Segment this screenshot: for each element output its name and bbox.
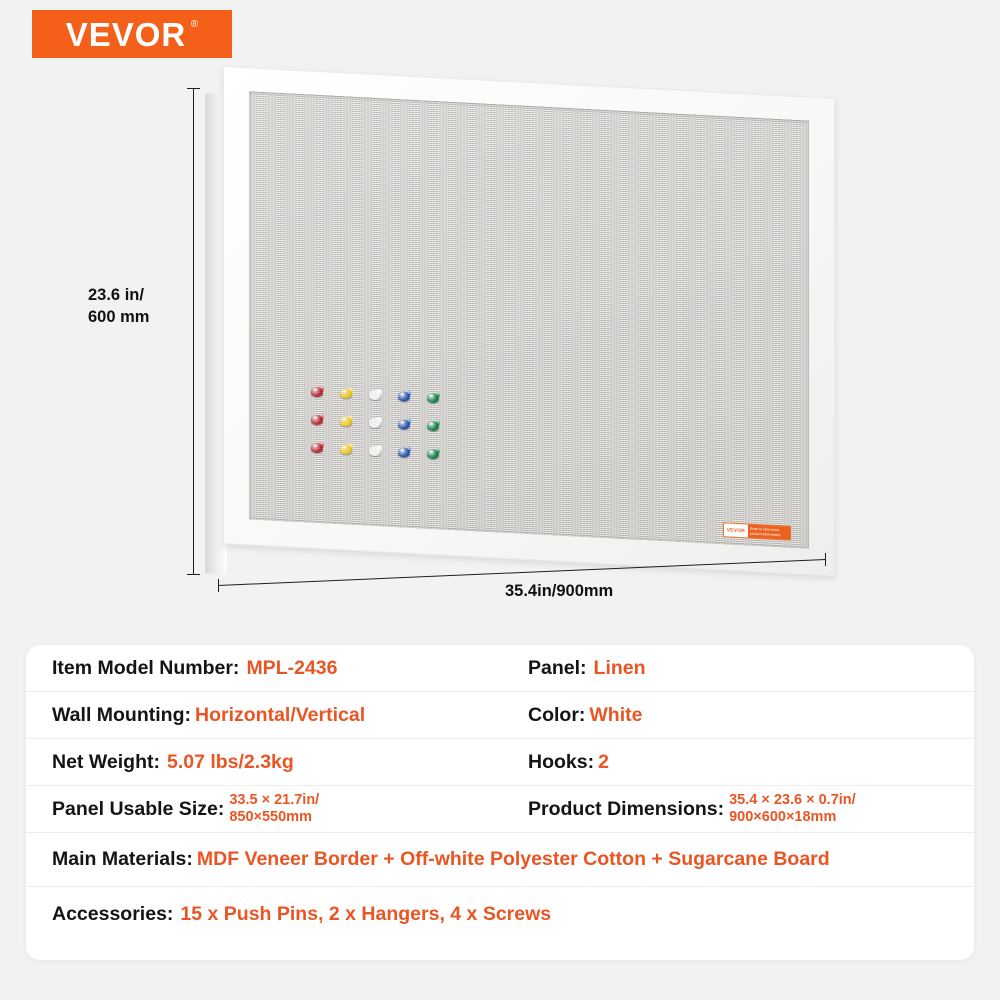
push-pin <box>369 418 382 430</box>
height-dimension-cap-bottom <box>187 574 200 575</box>
spec-value: 5.07 lbs/2.3kg <box>167 751 294 774</box>
push-pin-cap <box>427 393 439 404</box>
push-pin-cap <box>398 447 410 458</box>
push-pin <box>427 449 440 461</box>
height-dimension-label: 23.6 in/ 600 mm <box>88 284 188 329</box>
push-pin <box>398 419 411 431</box>
vevor-wordmark-text: VEVOR <box>66 16 187 53</box>
spec-label: Main Materials: <box>52 848 193 871</box>
push-pin-cap <box>398 419 410 430</box>
spec-cell-panel: Panel: Linen <box>500 657 948 680</box>
spec-value-line1: 33.5 × 21.7in/ <box>229 792 319 808</box>
height-dimension-cap-top <box>187 88 200 89</box>
table-row: Main Materials: MDF Veneer Border + Off-… <box>26 833 974 887</box>
spec-value: 15 x Push Pins, 2 x Hangers, 4 x Screws <box>180 903 551 926</box>
push-pin-cap <box>369 446 381 457</box>
spec-label: Product Dimensions: <box>528 798 724 821</box>
vevor-wordmark: VEVOR® <box>66 18 199 51</box>
push-pin-cap <box>369 390 381 401</box>
spec-label: Panel Usable Size: <box>52 798 224 821</box>
push-pin-cap <box>340 388 352 399</box>
spec-value: Linen <box>594 657 646 680</box>
push-pin-cap <box>427 449 439 460</box>
push-pin <box>340 388 353 400</box>
spec-value-line1: 35.4 × 23.6 × 0.7in/ <box>729 792 856 808</box>
push-pin-cap <box>311 415 323 426</box>
push-pin <box>427 393 440 405</box>
table-row: Wall Mounting: Horizontal/Vertical Color… <box>26 692 974 739</box>
push-pin-cap <box>311 443 323 454</box>
push-pin <box>311 387 324 399</box>
spec-label: Accessories: <box>52 903 173 926</box>
sticker-brand-mark: VEVOR <box>724 527 748 534</box>
spec-value: MDF Veneer Border + Off-white Polyester … <box>197 848 830 871</box>
push-pin-cap <box>340 444 352 455</box>
table-row: Net Weight: 5.07 lbs/2.3kg Hooks: 2 <box>26 739 974 786</box>
spec-cell-net-weight: Net Weight: 5.07 lbs/2.3kg <box>52 751 500 774</box>
spec-label: Hooks: <box>528 751 594 774</box>
height-dimension-label-line2: 600 mm <box>88 306 188 328</box>
push-pin <box>340 416 353 428</box>
push-pin-cap <box>369 418 381 429</box>
spec-value: 33.5 × 21.7in/ 850×550mm <box>229 792 319 826</box>
push-pin-cap <box>398 391 410 402</box>
spec-label: Wall Mounting: <box>52 704 191 727</box>
registered-trademark-icon: ® <box>191 20 198 30</box>
product-photo-figure: 23.6 in/ 600 mm VEVOR Scan to view more … <box>0 62 1000 627</box>
board-vevor-sticker: VEVOR Scan to view more product informat… <box>723 522 791 541</box>
spec-label: Item Model Number: <box>52 657 239 680</box>
spec-cell-wall-mounting: Wall Mounting: Horizontal/Vertical <box>52 704 500 727</box>
push-pin <box>340 444 353 456</box>
push-pin-cap <box>427 421 439 432</box>
width-dimension-cap-left <box>218 579 219 592</box>
height-dimension-label-line1: 23.6 in/ <box>88 284 188 306</box>
push-pin <box>398 391 411 403</box>
spec-cell-product-dimensions: Product Dimensions: 35.4 × 23.6 × 0.7in/… <box>500 792 948 826</box>
spec-cell-item-model-number: Item Model Number: MPL-2436 <box>52 657 500 680</box>
push-pin-grid <box>311 387 456 479</box>
push-pin <box>311 443 324 455</box>
push-pin <box>369 446 382 458</box>
push-pin <box>427 421 440 433</box>
table-row: Accessories: 15 x Push Pins, 2 x Hangers… <box>26 887 974 941</box>
spec-value: Horizontal/Vertical <box>195 704 365 727</box>
spec-cell-accessories: Accessories: 15 x Push Pins, 2 x Hangers… <box>52 903 948 926</box>
push-pin <box>311 415 324 427</box>
table-row: Item Model Number: MPL-2436 Panel: Linen <box>26 645 974 692</box>
push-pin <box>369 390 382 402</box>
height-dimension-line <box>193 88 194 575</box>
spec-value: 2 <box>598 751 609 774</box>
spec-label: Net Weight: <box>52 751 160 774</box>
linen-panel: VEVOR Scan to view more product informat… <box>249 91 809 548</box>
spec-value-line2: 850×550mm <box>229 809 319 826</box>
spec-label: Panel: <box>528 657 587 680</box>
vevor-logo: VEVOR® <box>32 10 232 58</box>
specification-card: Item Model Number: MPL-2436 Panel: Linen… <box>26 645 974 960</box>
spec-label: Color: <box>528 704 585 727</box>
push-pin-cap <box>340 416 352 427</box>
table-row: Panel Usable Size: 33.5 × 21.7in/ 850×55… <box>26 786 974 833</box>
width-dimension-label: 35.4in/900mm <box>505 582 613 601</box>
spec-cell-color: Color: White <box>500 704 948 727</box>
push-pin <box>398 447 411 459</box>
spec-cell-panel-usable-size: Panel Usable Size: 33.5 × 21.7in/ 850×55… <box>52 792 500 826</box>
sticker-fine-print: Scan to view more product information <box>748 526 790 537</box>
spec-value: 35.4 × 23.6 × 0.7in/ 900×600×18mm <box>729 792 856 826</box>
board-front-face: VEVOR Scan to view more product informat… <box>223 66 835 576</box>
spec-cell-hooks: Hooks: 2 <box>500 751 948 774</box>
width-dimension-cap-right <box>825 553 826 566</box>
push-pin-cap <box>311 387 323 398</box>
spec-value: MPL-2436 <box>246 657 337 680</box>
spec-value: White <box>589 704 642 727</box>
spec-value-line2: 900×600×18mm <box>729 809 856 826</box>
spec-cell-main-materials: Main Materials: MDF Veneer Border + Off-… <box>52 848 948 871</box>
